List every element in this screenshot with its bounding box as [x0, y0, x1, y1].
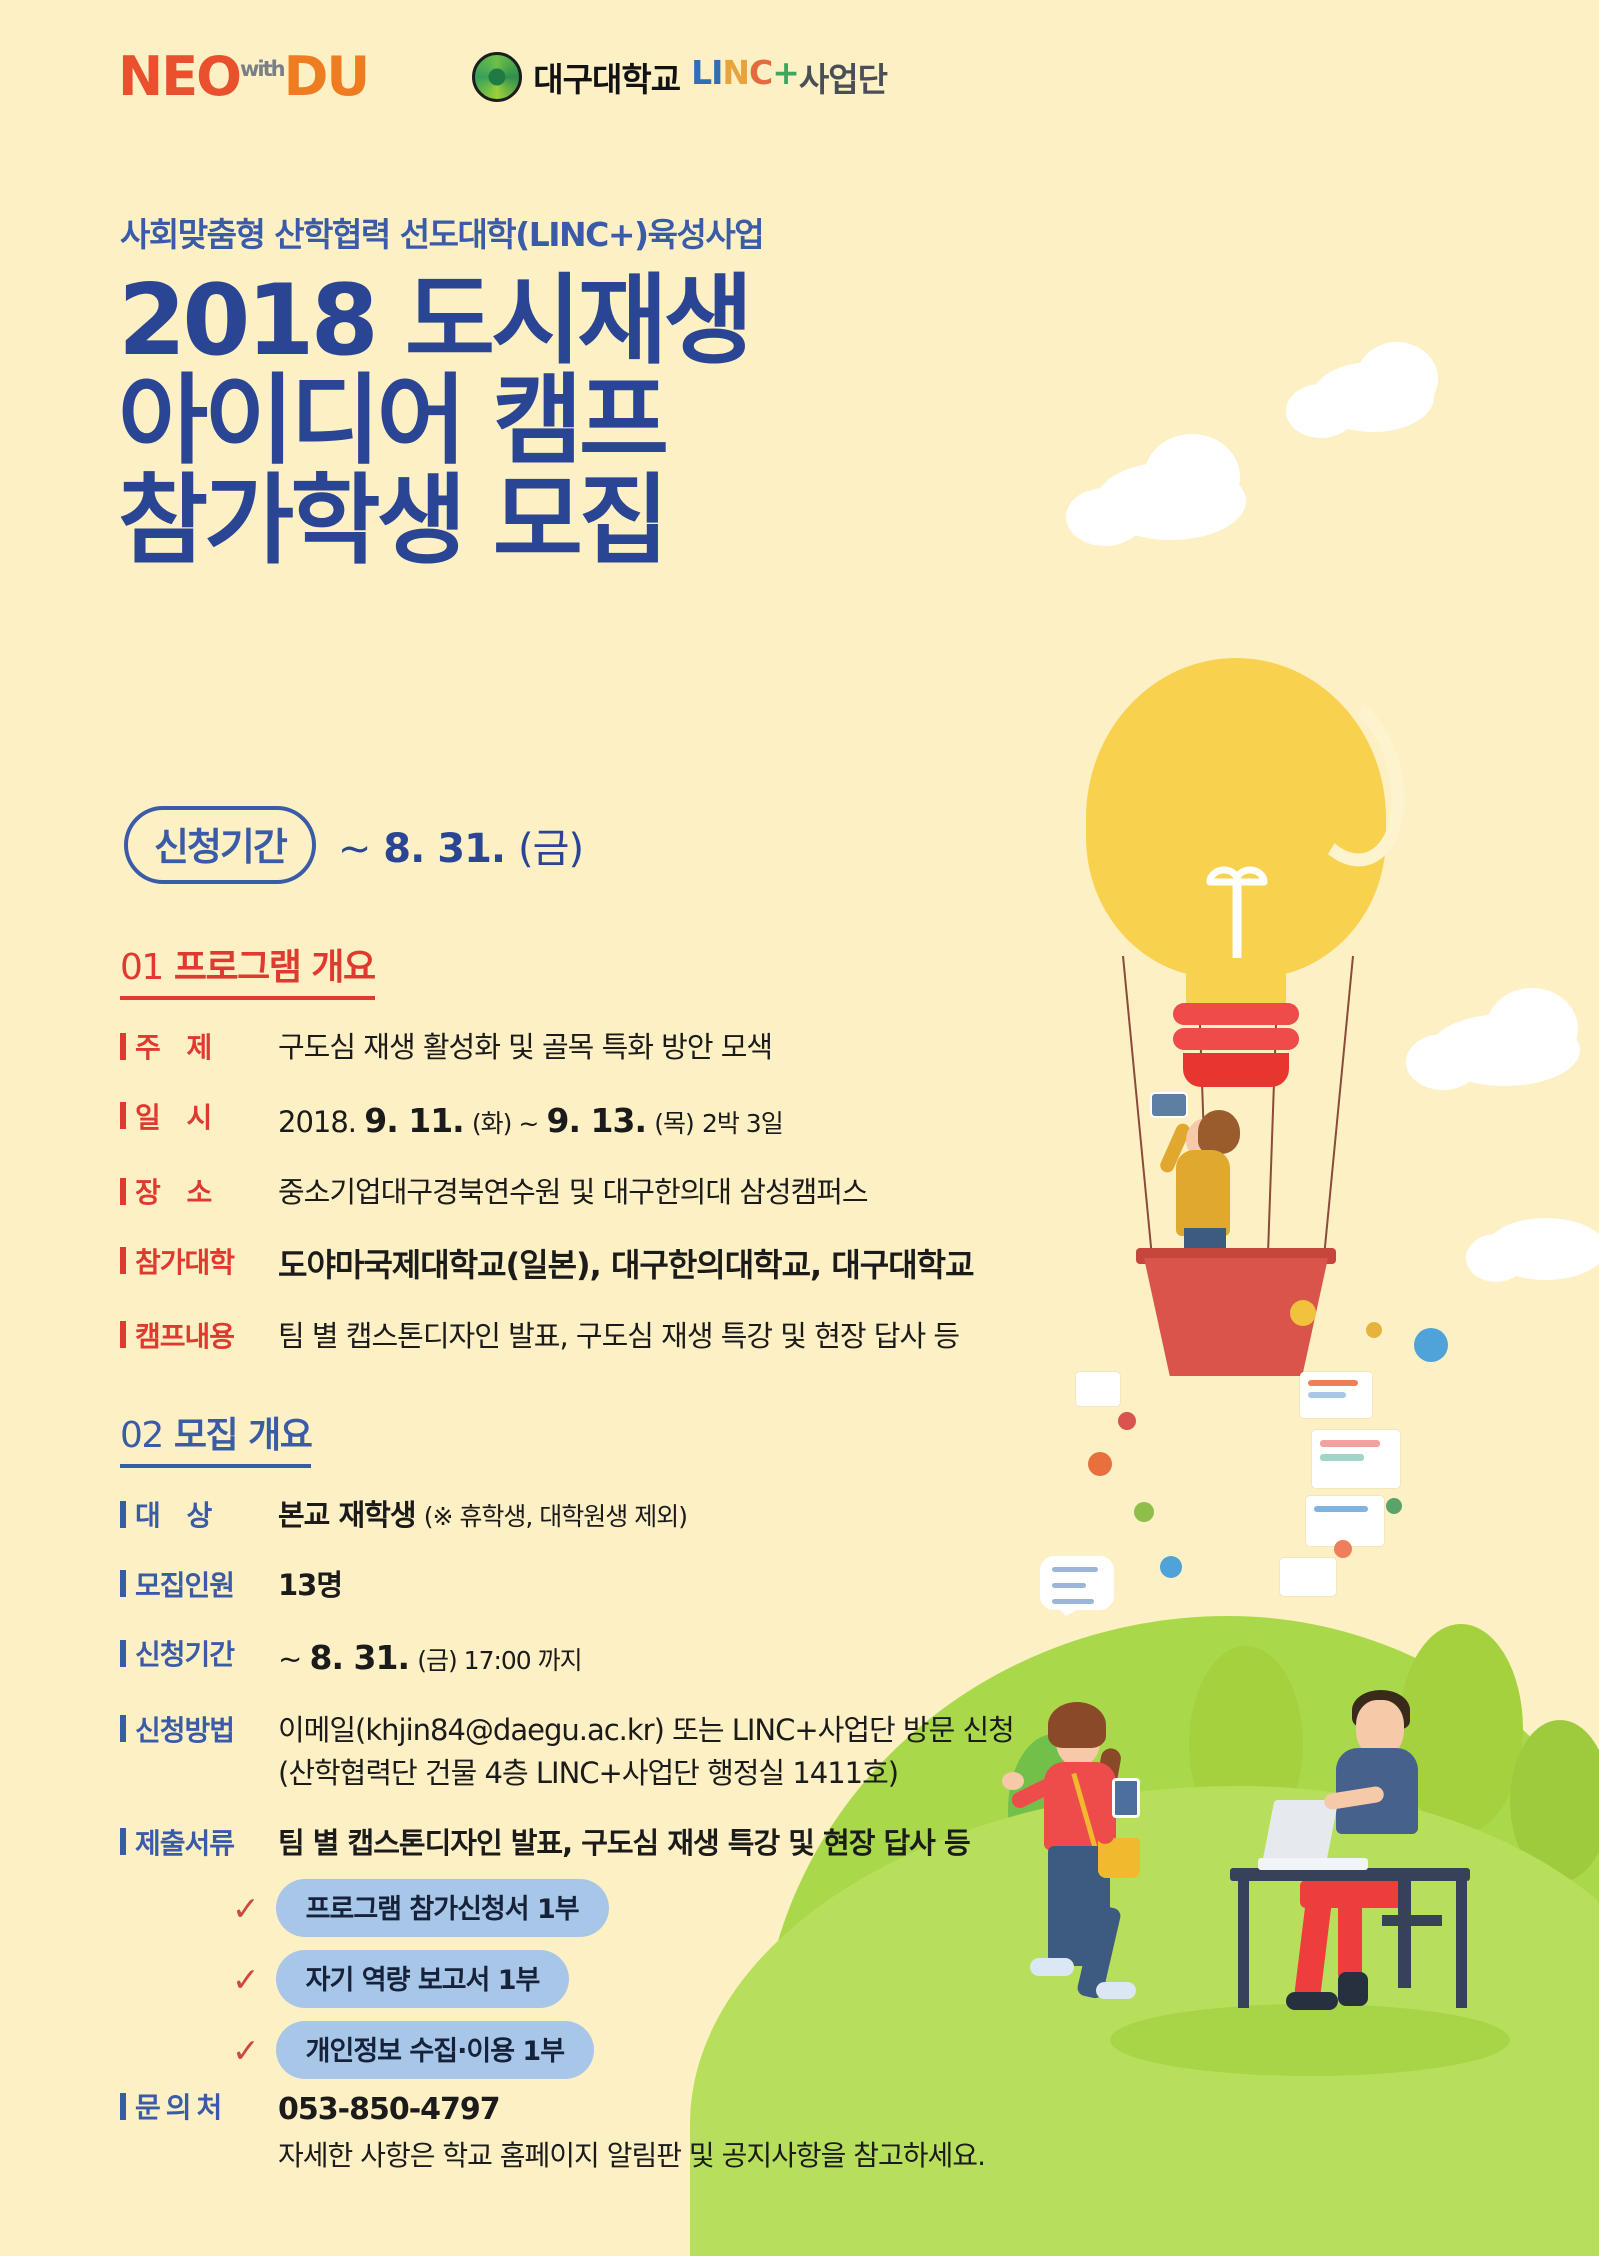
program-kicker: 사회맞춤형 산학협력 선도대학(LINC+)육성사업: [120, 208, 763, 256]
section-01-number: 01: [120, 947, 163, 988]
eligibility-note: (※ 휴학생, 대학원생 제외): [424, 1502, 687, 1531]
row-label: 모집인원: [120, 1564, 278, 1604]
contact-note: 자세한 사항은 학교 홈페이지 알림판 및 공지사항을 참고하세요.: [278, 2134, 985, 2179]
row-label-text: 일 시: [135, 1096, 220, 1136]
row-label-text: 주 제: [135, 1026, 220, 1066]
neo-logo-du: DU: [284, 45, 369, 108]
linc-letter-n: N: [722, 53, 749, 101]
section-02-heading: 02 모집 개요: [120, 1406, 311, 1468]
row-label: 대 상: [120, 1494, 278, 1534]
row-required-documents: 제출서류 팀 별 캡스톤디자인 발표, 구도심 재생 특강 및 현장 답사 등: [120, 1822, 1014, 1866]
row-label-text: 장 소: [135, 1171, 220, 1211]
contact-label-wrap: 문의처: [120, 2086, 278, 2126]
neo-logo-text: NEO: [118, 45, 240, 108]
linc-plus-logo: LINC+사업단: [691, 53, 887, 101]
label-bar-icon: [120, 1828, 126, 1855]
row-label: 참가대학: [120, 1241, 278, 1281]
page-title: 2018 도시재생 아이디어 캠프 참가학생 모집: [118, 272, 750, 572]
label-bar-icon: [120, 1501, 126, 1528]
headline-line-2: 아이디어 캠프: [118, 372, 750, 472]
row-value: 팀 별 캡스톤디자인 발표, 구도심 재생 특강 및 현장 답사 등: [278, 1822, 970, 1866]
document-tag: 자기 역량 보고서 1부: [276, 1950, 570, 2008]
neo-with-du-logo: NEOwithDU: [118, 50, 368, 104]
section-01-heading: 01 프로그램 개요: [120, 938, 375, 1000]
date-duration: 2박 3일: [702, 1109, 783, 1138]
document-checklist: ✓ 프로그램 참가신청서 1부 ✓ 자기 역량 보고서 1부 ✓ 개인정보 수집…: [232, 1879, 1014, 2079]
period-deadline-time: (금) 17:00 까지: [417, 1646, 581, 1675]
row-label: 주 제: [120, 1026, 278, 1066]
row-label: 장 소: [120, 1171, 278, 1211]
period-pill-label: 신청기간: [124, 806, 316, 884]
headline-line-1: 2018 도시재생: [118, 272, 750, 372]
row-camp-content: 캠프내용 팀 별 캡스톤디자인 발표, 구도심 재생 특강 및 현장 답사 등: [120, 1315, 974, 1359]
eligibility-main: 본교 재학생: [278, 1498, 416, 1532]
date-prefix: 2018.: [278, 1105, 356, 1139]
row-label-text: 캠프내용: [135, 1315, 234, 1355]
row-label: 제출서류: [120, 1822, 278, 1862]
section-02-title: 모집 개요: [174, 1415, 312, 1456]
period-value: ~ 8. 31. (금): [338, 816, 583, 874]
linc-letter-i: I: [711, 53, 722, 101]
label-bar-icon: [120, 1715, 126, 1742]
check-icon: ✓: [232, 2034, 260, 2067]
label-bar-icon: [120, 2093, 126, 2120]
row-datetime: 일 시 2018. 9. 11. (화) ~ 9. 13. (목) 2박 3일: [120, 1096, 974, 1146]
row-label: 신청방법: [120, 1709, 278, 1749]
university-emblem-icon: [472, 52, 522, 102]
contact-label: 문의처: [135, 2086, 227, 2126]
row-label: 캠프내용: [120, 1315, 278, 1355]
row-value: 2018. 9. 11. (화) ~ 9. 13. (목) 2박 3일: [278, 1096, 783, 1146]
row-label: 일 시: [120, 1096, 278, 1136]
row-value: ~ 8. 31. (금) 17:00 까지: [278, 1633, 582, 1683]
date-start: 9. 11.: [364, 1101, 463, 1140]
poster-root: NEOwithDU 대구대학교 LINC+사업단 사회맞춤형 산학협력 선도대학…: [0, 0, 1599, 2256]
daegu-university-logo: 대구대학교 LINC+사업단: [472, 52, 887, 102]
linc-letter-l: L: [691, 53, 711, 101]
label-bar-icon: [120, 1102, 126, 1129]
row-value: 중소기업대구경북연수원 및 대구한의대 삼성캠퍼스: [278, 1171, 868, 1215]
row-label-text: 참가대학: [135, 1241, 234, 1281]
contact-phone: 053-850-4797: [278, 2086, 985, 2134]
headline-line-3: 참가학생 모집: [118, 472, 750, 572]
list-item: ✓ 자기 역량 보고서 1부: [232, 1950, 1014, 2008]
row-label-text: 대 상: [135, 1494, 220, 1534]
content-layer: NEOwithDU 대구대학교 LINC+사업단 사회맞춤형 산학협력 선도대학…: [0, 0, 1599, 2256]
row-quota: 모집인원 13명: [120, 1564, 1014, 1608]
label-bar-icon: [120, 1033, 126, 1060]
row-label-text: 신청방법: [135, 1709, 234, 1749]
period-day: (금): [518, 826, 583, 872]
row-eligibility: 대 상 본교 재학생 (※ 휴학생, 대학원생 제외): [120, 1494, 1014, 1538]
date-start-day: (화) ~: [472, 1109, 538, 1138]
linc-plus-sign: +: [772, 53, 799, 101]
university-name: 대구대학교: [533, 53, 680, 101]
list-item: ✓ 개인정보 수집·이용 1부: [232, 2021, 1014, 2079]
application-period-banner: 신청기간 ~ 8. 31. (금): [124, 806, 583, 884]
date-end-day: (목): [654, 1109, 694, 1138]
linc-letter-c: C: [749, 53, 772, 101]
label-bar-icon: [120, 1640, 126, 1667]
period-tilde: ~: [338, 826, 371, 872]
universities-text: 도야마국제대학교(일본), 대구한의대학교, 대구대학교: [278, 1246, 974, 1284]
list-item: ✓ 프로그램 참가신청서 1부: [232, 1879, 1014, 1937]
period-prefix: ~: [278, 1642, 301, 1676]
row-value: 본교 재학생 (※ 휴학생, 대학원생 제외): [278, 1494, 687, 1538]
row-value: 13명: [278, 1564, 342, 1608]
row-value: 이메일(khjin84@daegu.ac.kr) 또는 LINC+사업단 방문 …: [278, 1709, 1014, 1796]
row-value: 도야마국제대학교(일본), 대구한의대학교, 대구대학교: [278, 1241, 974, 1289]
document-tag: 프로그램 참가신청서 1부: [276, 1879, 609, 1937]
method-line-1: 이메일(khjin84@daegu.ac.kr) 또는 LINC+사업단 방문 …: [278, 1709, 1014, 1753]
quota-value: 13명: [278, 1568, 342, 1602]
date-end: 9. 13.: [547, 1101, 646, 1140]
row-label: 신청기간: [120, 1633, 278, 1673]
linc-unit-name: 사업단: [799, 53, 887, 101]
period-date: 8. 31.: [383, 826, 505, 872]
method-line-2: (산학협력단 건물 4층 LINC+사업단 행정실 1411호): [278, 1752, 1014, 1796]
neo-logo-with: with: [240, 57, 284, 81]
documents-summary: 팀 별 캡스톤디자인 발표, 구도심 재생 특강 및 현장 답사 등: [278, 1826, 970, 1860]
check-icon: ✓: [232, 1963, 260, 1996]
section-02-rows: 대 상 본교 재학생 (※ 휴학생, 대학원생 제외) 모집인원 13명: [120, 1494, 1014, 2079]
label-bar-icon: [120, 1247, 126, 1274]
label-bar-icon: [120, 1321, 126, 1348]
period-deadline: 8. 31.: [310, 1638, 409, 1677]
row-application-method: 신청방법 이메일(khjin84@daegu.ac.kr) 또는 LINC+사업…: [120, 1709, 1014, 1796]
logo-bar: NEOwithDU 대구대학교 LINC+사업단: [118, 50, 887, 104]
row-label-text: 신청기간: [135, 1633, 234, 1673]
section-program-overview: 01 프로그램 개요 주 제 구도심 재생 활성화 및 골목 특화 방안 모색 …: [120, 938, 974, 1384]
section-01-rows: 주 제 구도심 재생 활성화 및 골목 특화 방안 모색 일 시 2018. 9…: [120, 1026, 974, 1358]
row-application-period: 신청기간 ~ 8. 31. (금) 17:00 까지: [120, 1633, 1014, 1683]
row-value: 구도심 재생 활성화 및 골목 특화 방안 모색: [278, 1026, 772, 1070]
section-01-title: 프로그램 개요: [174, 947, 375, 988]
contact-block: 문의처 053-850-4797 자세한 사항은 학교 홈페이지 알림판 및 공…: [120, 2086, 985, 2179]
row-topic: 주 제 구도심 재생 활성화 및 골목 특화 방안 모색: [120, 1026, 974, 1070]
row-label-text: 제출서류: [135, 1822, 234, 1862]
label-bar-icon: [120, 1178, 126, 1205]
document-tag: 개인정보 수집·이용 1부: [276, 2021, 594, 2079]
row-label-text: 모집인원: [135, 1564, 234, 1604]
row-participating-universities: 참가대학 도야마국제대학교(일본), 대구한의대학교, 대구대학교: [120, 1241, 974, 1289]
section-recruitment-overview: 02 모집 개요 대 상 본교 재학생 (※ 휴학생, 대학원생 제외): [120, 1406, 1014, 2092]
check-icon: ✓: [232, 1892, 260, 1925]
section-02-number: 02: [120, 1415, 163, 1456]
label-bar-icon: [120, 1570, 126, 1597]
row-value: 팀 별 캡스톤디자인 발표, 구도심 재생 특강 및 현장 답사 등: [278, 1315, 959, 1359]
row-venue: 장 소 중소기업대구경북연수원 및 대구한의대 삼성캠퍼스: [120, 1171, 974, 1215]
contact-value: 053-850-4797 자세한 사항은 학교 홈페이지 알림판 및 공지사항을…: [278, 2086, 985, 2179]
